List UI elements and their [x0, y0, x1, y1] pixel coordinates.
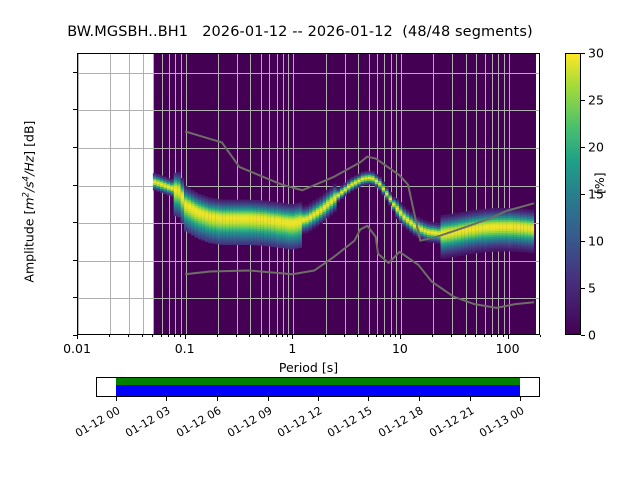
coverage-tick-label: 01-12 18 — [366, 404, 426, 446]
x-tick-mark-minor — [180, 335, 181, 337]
coverage-tick-label: 01-13 00 — [466, 404, 526, 446]
colorbar-tick-label: 0 — [588, 328, 596, 343]
x-tick-mark-minor — [395, 335, 396, 337]
x-tick-label: 0.01 — [63, 341, 91, 356]
x-tick-mark-major — [400, 335, 401, 339]
x-tick-mark-minor — [497, 335, 498, 337]
coverage-tick-label: 01-12 12 — [264, 404, 324, 446]
coverage-tick-label: 01-12 09 — [214, 404, 274, 446]
colorbar-tick-mark — [581, 288, 585, 289]
colorbar[interactable] — [565, 53, 581, 335]
coverage-tick-mark — [166, 397, 167, 401]
ppsd-plot-area[interactable] — [77, 53, 540, 335]
coverage-tick-mark — [116, 397, 117, 401]
x-tick-mark-minor — [390, 335, 391, 337]
x-tick-mark-minor — [217, 335, 218, 337]
coverage-tick-mark — [318, 397, 319, 401]
x-tick-mark-minor — [325, 335, 326, 337]
coverage-tick-label: 01-12 03 — [113, 404, 173, 446]
y-axis-label: Amplitude [m2/s4/Hz] [dB] — [21, 77, 36, 327]
x-tick-mark-minor — [383, 335, 384, 337]
x-tick-mark-minor — [109, 335, 110, 337]
x-tick-mark-minor — [249, 335, 250, 337]
coverage-tick-mark — [419, 397, 420, 401]
coverage-band-blue — [116, 385, 520, 396]
time-coverage-bar[interactable] — [96, 377, 540, 397]
x-tick-mark-minor — [475, 335, 476, 337]
x-tick-mark-minor — [376, 335, 377, 337]
ppsd-histogram — [153, 171, 534, 259]
x-tick-label: 100 — [496, 341, 520, 356]
x-tick-mark-major — [508, 335, 509, 339]
x-tick-mark-minor — [491, 335, 492, 337]
colorbar-tick-label: 20 — [588, 140, 604, 155]
x-axis-label: Period [s] — [77, 360, 540, 375]
x-tick-mark-minor — [128, 335, 129, 337]
colorbar-tick-label: 5 — [588, 281, 596, 296]
coverage-tick-mark — [217, 397, 218, 401]
x-tick-mark-minor — [503, 335, 504, 337]
colorbar-tick-label: 25 — [588, 93, 604, 108]
x-tick-mark-minor — [357, 335, 358, 337]
x-tick-label: 0.1 — [175, 341, 195, 356]
x-tick-mark-major — [292, 335, 293, 339]
colorbar-tick-mark — [581, 194, 585, 195]
colorbar-label: [%] — [592, 172, 607, 194]
x-tick-mark-major — [77, 335, 78, 339]
y-axis-label-text: Amplitude [ — [22, 210, 37, 283]
coverage-tick-mark — [368, 397, 369, 401]
coverage-tick-label: 01-12 21 — [416, 404, 476, 446]
x-tick-mark-minor — [287, 335, 288, 337]
x-tick-label: 10 — [392, 341, 408, 356]
x-tick-mark-minor — [368, 335, 369, 337]
x-tick-mark-minor — [484, 335, 485, 337]
colorbar-tick-mark — [581, 335, 585, 336]
x-tick-mark-minor — [161, 335, 162, 337]
x-tick-mark-minor — [451, 335, 452, 337]
x-tick-mark-minor — [260, 335, 261, 337]
x-tick-mark-minor — [174, 335, 175, 337]
x-tick-mark-minor — [168, 335, 169, 337]
coverage-tick-mark — [520, 397, 521, 401]
colorbar-tick-mark — [581, 53, 585, 54]
colorbar-tick-label: 10 — [588, 234, 604, 249]
ppsd-figure: BW.MGSBH..BH1 2026-01-12 -- 2026-01-12 (… — [0, 0, 640, 480]
x-tick-mark-minor — [282, 335, 283, 337]
x-tick-mark-minor — [236, 335, 237, 337]
coverage-tick-label: 01-12 06 — [163, 404, 223, 446]
x-tick-mark-minor — [465, 335, 466, 337]
colorbar-tick-mark — [581, 100, 585, 101]
colorbar-tick-mark — [581, 147, 585, 148]
colorbar-tick-mark — [581, 241, 585, 242]
x-tick-label: 1 — [288, 341, 296, 356]
page-title: BW.MGSBH..BH1 2026-01-12 -- 2026-01-12 (… — [0, 24, 600, 40]
coverage-band-green — [116, 378, 520, 385]
x-tick-mark-minor — [276, 335, 277, 337]
ppsd-curves-overlay — [78, 54, 539, 334]
coverage-tick-mark — [268, 397, 269, 401]
x-tick-mark-minor — [268, 335, 269, 337]
coverage-tick-mark — [470, 397, 471, 401]
x-tick-mark-minor — [540, 335, 541, 337]
x-tick-mark-minor — [142, 335, 143, 337]
x-tick-mark-minor — [344, 335, 345, 337]
coverage-tick-label: 01-12 00 — [62, 404, 122, 446]
x-tick-mark-minor — [432, 335, 433, 337]
coverage-tick-label: 01-12 15 — [315, 404, 375, 446]
x-tick-mark-major — [185, 335, 186, 339]
colorbar-tick-label: 30 — [588, 46, 604, 61]
x-tick-mark-minor — [152, 335, 153, 337]
